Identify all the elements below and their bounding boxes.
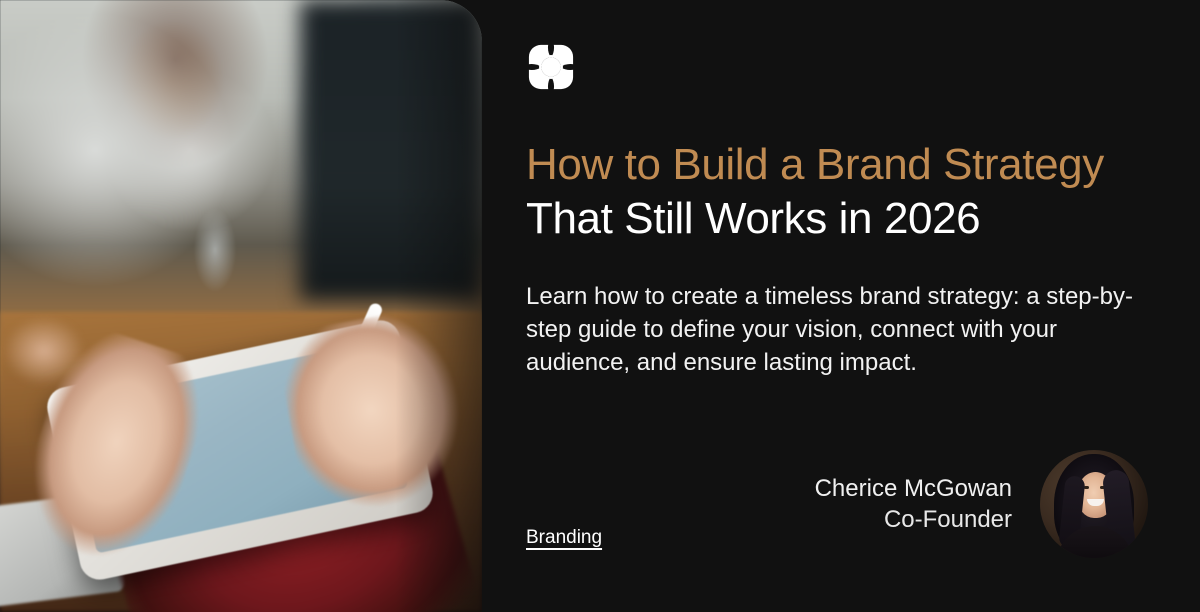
author-block: Cherice McGowan Co-Founder xyxy=(815,450,1148,558)
card-footer: Branding Cherice McGowan Co-Founder xyxy=(526,450,1148,578)
author-name: Cherice McGowan xyxy=(815,473,1012,504)
content-panel: How to Build a Brand Strategy That Still… xyxy=(482,0,1200,612)
avatar xyxy=(1040,450,1148,558)
hero-image xyxy=(0,0,482,612)
blog-promo-card: How to Build a Brand Strategy That Still… xyxy=(0,0,1200,612)
title-line-2: That Still Works in 2026 xyxy=(526,192,1148,246)
page-subtitle: Learn how to create a timeless brand str… xyxy=(526,280,1148,379)
hero-image-background-wall xyxy=(300,0,482,300)
title-line-1: How to Build a Brand Strategy xyxy=(526,138,1148,192)
avatar-eye-left xyxy=(1084,486,1089,489)
category-tag-branding[interactable]: Branding xyxy=(526,527,602,558)
brand-logo[interactable] xyxy=(528,44,574,90)
page-title: How to Build a Brand Strategy That Still… xyxy=(526,138,1148,246)
hero-image-right-hand xyxy=(275,305,475,522)
author-role: Co-Founder xyxy=(815,504,1012,535)
author-text: Cherice McGowan Co-Founder xyxy=(815,473,1012,535)
